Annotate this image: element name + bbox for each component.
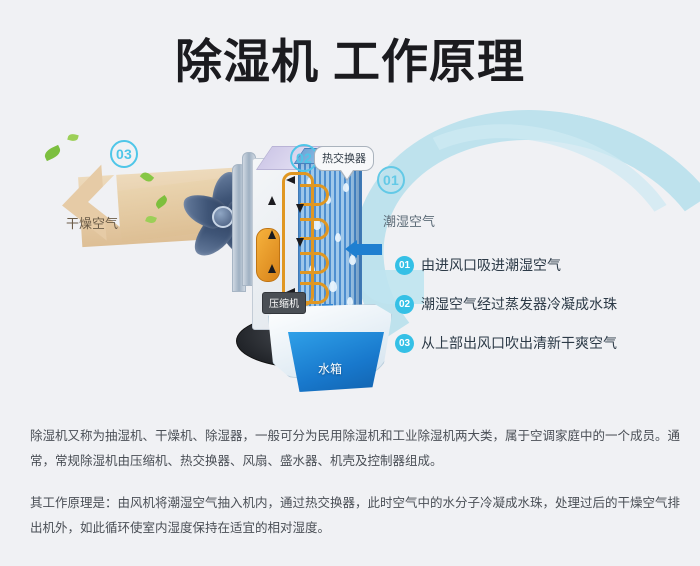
coil-uturn (300, 252, 329, 274)
badge-humid-air: 01 (377, 166, 405, 194)
step-badge: 02 (395, 295, 414, 314)
leaf-icon (67, 133, 78, 142)
leaf-icon (43, 145, 63, 161)
air-intake-arrow (356, 244, 382, 255)
dehumidifier-machine: 压缩机 水箱 (240, 146, 390, 386)
water-droplet (329, 281, 337, 292)
flow-arrow-up (268, 196, 276, 205)
step-item: 02 潮湿空气经过蒸发器冷凝成水珠 (395, 295, 695, 334)
step-item: 01 由进风口吸进潮湿空气 (395, 256, 695, 295)
step-text: 从上部出风口吹出清新干爽空气 (421, 334, 617, 353)
condenser-coil (252, 172, 314, 304)
heat-exchanger-callout: 热交换器 (314, 146, 374, 171)
step-badge: 01 (395, 256, 414, 275)
paragraph-principle: 其工作原理是：由风机将潮湿空气抽入机内，通过热交换器，此时空气中的水分子冷凝成水… (30, 491, 680, 541)
water-droplet (347, 297, 353, 306)
compressor-label: 压缩机 (262, 292, 306, 314)
step-badge: 03 (395, 334, 414, 353)
paragraph-definition: 除湿机又称为抽湿机、干燥机、除湿器，一般可分为民用除湿机和工业除湿机两大类，属于… (30, 424, 680, 474)
step-text: 潮湿空气经过蒸发器冷凝成水珠 (421, 295, 617, 314)
page-title: 除湿机 工作原理 (0, 33, 700, 91)
water-tank-label: 水箱 (318, 360, 342, 377)
steps-list: 01 由进风口吸进潮湿空气 02 潮湿空气经过蒸发器冷凝成水珠 03 从上部出风… (395, 256, 695, 373)
flow-arrow-up (268, 230, 276, 239)
coil-uturn (300, 184, 329, 206)
step-text: 由进风口吸进潮湿空气 (421, 256, 561, 275)
water-droplet (335, 233, 341, 242)
fan-hub (212, 206, 234, 228)
flow-arrow-down (296, 204, 304, 213)
dehumidifier-infographic: 除湿机 工作原理 (0, 0, 700, 566)
step-item: 03 从上部出风口吹出清新干爽空气 (395, 334, 695, 373)
dry-air-label: 干燥空气 (66, 213, 118, 232)
water-droplet (343, 183, 349, 192)
humid-air-label: 潮湿空气 (383, 211, 435, 230)
flow-arrow-left (286, 176, 295, 184)
flow-arrow-up (268, 264, 276, 273)
flow-arrow-down (296, 238, 304, 247)
badge-dry-air: 03 (110, 140, 138, 168)
description-block: 除湿机又称为抽湿机、干燥机、除湿器，一般可分为民用除湿机和工业除湿机两大类，属于… (30, 424, 680, 541)
coil-uturn (300, 218, 329, 240)
